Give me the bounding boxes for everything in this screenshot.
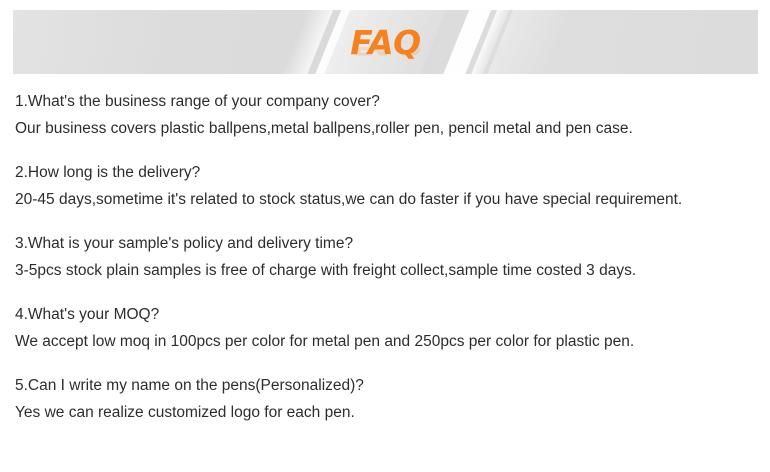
faq-answer: 20-45 days,sometime it's related to stoc… (15, 186, 759, 213)
faq-item: 1.What's the business range of your comp… (15, 88, 759, 142)
faq-question: 3.What is your sample's policy and deliv… (15, 230, 759, 257)
faq-answer: Our business covers plastic ballpens,met… (15, 115, 759, 142)
faq-page: FAQ FAQ 1.What's the business range of y… (0, 0, 770, 472)
faq-question: 2.How long is the delivery? (15, 159, 759, 186)
faq-answer: We accept low moq in 100pcs per color fo… (15, 328, 759, 355)
faq-answer: 3-5pcs stock plain samples is free of ch… (15, 257, 759, 284)
banner-title-container: FAQ (13, 26, 758, 59)
faq-list: 1.What's the business range of your comp… (15, 88, 759, 426)
faq-item: 3.What is your sample's policy and deliv… (15, 230, 759, 284)
faq-question: 1.What's the business range of your comp… (15, 88, 759, 115)
page-title: FAQ (350, 26, 420, 59)
faq-item: 2.How long is the delivery? 20-45 days,s… (15, 159, 759, 213)
faq-answer: Yes we can realize customized logo for e… (15, 399, 759, 426)
faq-item: 4.What's your MOQ? We accept low moq in … (15, 301, 759, 355)
faq-question: 5.Can I write my name on the pens(Person… (15, 372, 759, 399)
faq-question: 4.What's your MOQ? (15, 301, 759, 328)
faq-banner: FAQ FAQ (13, 10, 758, 74)
faq-item: 5.Can I write my name on the pens(Person… (15, 372, 759, 426)
